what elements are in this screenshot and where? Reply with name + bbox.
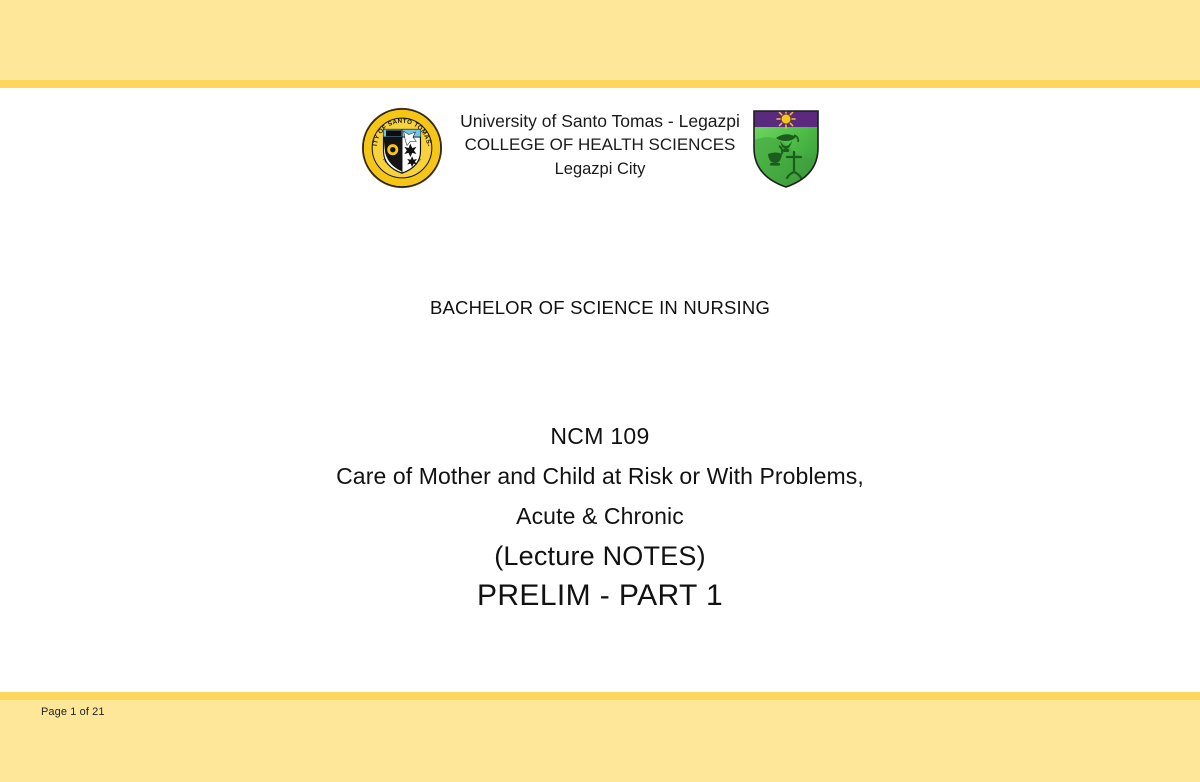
letterhead-line-university: University of Santo Tomas - Legazpi [450,109,750,133]
letterhead-line-city: Legazpi City [450,157,750,181]
letterhead-text: University of Santo Tomas - Legazpi COLL… [450,106,750,181]
viewer-top-rule [0,80,1200,88]
ust-legazpi-seal-icon: UNIVERSITY OF SANTO TOMAS-LEGAZPI LEGAZP… [360,106,444,190]
document-viewer: UNIVERSITY OF SANTO TOMAS-LEGAZPI LEGAZP… [0,0,1200,782]
letterhead: UNIVERSITY OF SANTO TOMAS-LEGAZPI LEGAZP… [0,106,1200,190]
college-of-health-sciences-shield-icon [750,108,822,190]
seal-slot: UNIVERSITY OF SANTO TOMAS-LEGAZPI LEGAZP… [354,106,450,190]
document-page: UNIVERSITY OF SANTO TOMAS-LEGAZPI LEGAZP… [0,88,1200,692]
page-indicator: Page 1 of 21 [41,706,105,718]
course-block: NCM 109 Care of Mother and Child at Risk… [0,416,1200,616]
course-subtitle: Acute & Chronic [0,496,1200,536]
viewer-bottom-band: Page 1 of 21 [0,700,1200,782]
viewer-bottom-rule [0,692,1200,700]
shield-slot [750,106,846,190]
course-title: Care of Mother and Child at Risk or With… [0,456,1200,496]
part-label: PRELIM - PART 1 [0,576,1200,616]
degree-program-title: BACHELOR OF SCIENCE IN NURSING [0,297,1200,319]
viewer-top-band [0,0,1200,80]
course-code: NCM 109 [0,416,1200,456]
notes-label: (Lecture NOTES) [0,536,1200,576]
letterhead-line-college: COLLEGE OF HEALTH SCIENCES [450,133,750,157]
